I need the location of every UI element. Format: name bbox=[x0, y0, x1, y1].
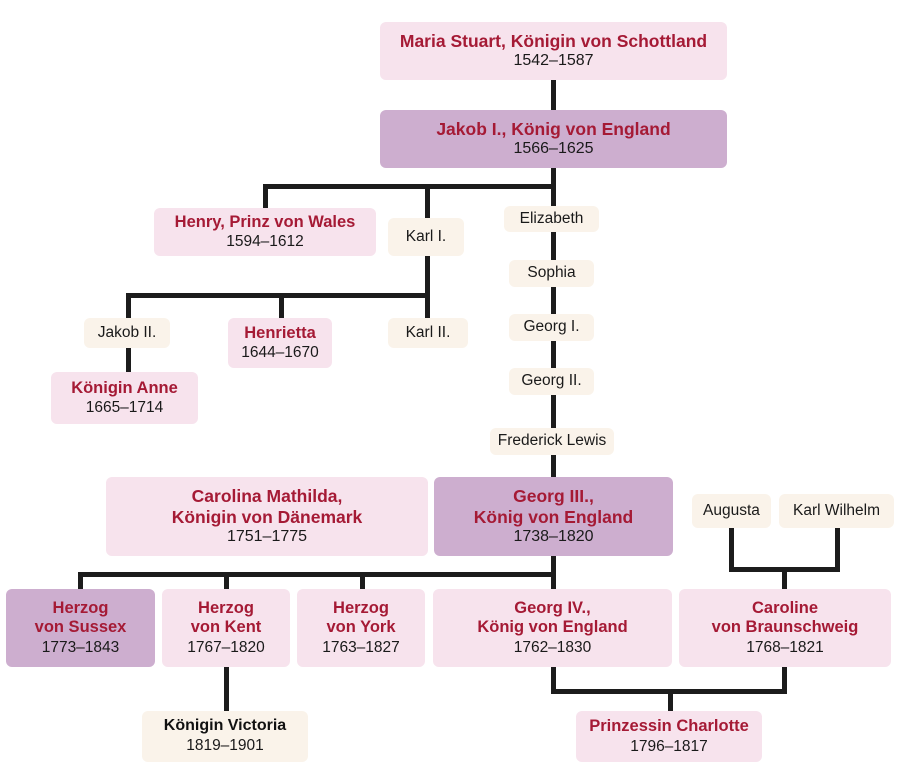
node-victoria-years: 1819–1901 bbox=[186, 737, 264, 755]
node-georg-iv-name-line2: König von England bbox=[477, 618, 627, 637]
node-caroline-von-braunschweig[interactable]: Caroline von Braunschweig 1768–1821 bbox=[679, 589, 891, 667]
node-maria-stuart-years: 1542–1587 bbox=[513, 52, 593, 71]
node-caroline-years: 1768–1821 bbox=[746, 639, 824, 657]
node-henrietta[interactable]: Henrietta 1644–1670 bbox=[228, 318, 332, 368]
edge-georg-ii-to-frederick bbox=[551, 395, 556, 428]
node-maria-stuart-name: Maria Stuart, Königin von Schottland bbox=[400, 31, 707, 52]
node-sophia-label: Sophia bbox=[527, 264, 575, 282]
edge-karl-wilhelm-down bbox=[835, 528, 840, 572]
node-henrietta-name: Henrietta bbox=[244, 324, 316, 343]
node-jakob-ii-label: Jakob II. bbox=[98, 324, 157, 342]
node-georg-iii-name-line1: Georg III., bbox=[513, 486, 594, 507]
node-jakob-i-name: Jakob I., König von England bbox=[436, 119, 670, 140]
edge-frederick-to-georg-iii bbox=[551, 455, 556, 479]
node-henry-name: Henry, Prinz von Wales bbox=[175, 213, 356, 232]
node-karl-i-label: Karl I. bbox=[406, 228, 446, 246]
node-caroline-name-line1: Caroline bbox=[752, 599, 818, 618]
edge-karl-i-bus bbox=[126, 293, 430, 298]
node-frederick-lewis[interactable]: Frederick Lewis bbox=[490, 428, 614, 455]
node-prinzessin-charlotte[interactable]: Prinzessin Charlotte 1796–1817 bbox=[576, 711, 762, 762]
node-sussex-name-line2: von Sussex bbox=[35, 618, 127, 637]
node-york-years: 1763–1827 bbox=[322, 639, 400, 657]
node-frederick-lewis-label: Frederick Lewis bbox=[498, 432, 607, 450]
edge-bus-to-henrietta bbox=[279, 293, 284, 318]
node-karl-wilhelm-label: Karl Wilhelm bbox=[793, 502, 880, 520]
node-georg-iii[interactable]: Georg III., König von England 1738–1820 bbox=[434, 477, 673, 556]
node-elizabeth[interactable]: Elizabeth bbox=[504, 206, 599, 232]
node-karl-wilhelm[interactable]: Karl Wilhelm bbox=[779, 494, 894, 528]
node-jakob-i[interactable]: Jakob I., König von England 1566–1625 bbox=[380, 110, 727, 168]
node-jakob-i-years: 1566–1625 bbox=[513, 140, 593, 159]
edge-elizabeth-to-sophia bbox=[551, 232, 556, 260]
node-henry-prinz-von-wales[interactable]: Henry, Prinz von Wales 1594–1612 bbox=[154, 208, 376, 256]
node-elizabeth-label: Elizabeth bbox=[520, 210, 584, 228]
edge-bus-to-henry bbox=[263, 184, 268, 208]
node-carolina-name-line1: Carolina Mathilda, bbox=[192, 486, 343, 507]
node-jakob-ii[interactable]: Jakob II. bbox=[84, 318, 170, 348]
node-kent-name-line1: Herzog bbox=[198, 599, 254, 618]
edge-bus-to-karl-i bbox=[425, 184, 430, 218]
edge-augusta-down bbox=[729, 528, 734, 572]
node-koenigin-victoria[interactable]: Königin Victoria 1819–1901 bbox=[142, 711, 308, 762]
node-koenigin-anne-name: Königin Anne bbox=[71, 379, 178, 398]
node-georg-ii[interactable]: Georg II. bbox=[509, 368, 594, 395]
node-carolina-mathilda[interactable]: Carolina Mathilda, Königin von Dänemark … bbox=[106, 477, 428, 556]
edge-jakob-ii-to-anne bbox=[126, 348, 131, 372]
node-georg-iv-years: 1762–1830 bbox=[514, 639, 592, 657]
node-york-name-line2: von York bbox=[326, 618, 395, 637]
edge-bus-to-caroline bbox=[782, 567, 787, 589]
edge-jakob-bus bbox=[263, 184, 556, 189]
node-georg-iv-name-line1: Georg IV., bbox=[514, 599, 590, 618]
node-georg-ii-label: Georg II. bbox=[521, 372, 581, 390]
edge-bus-to-kent bbox=[224, 572, 229, 589]
node-sussex-years: 1773–1843 bbox=[42, 639, 120, 657]
edge-kent-to-victoria bbox=[224, 667, 229, 711]
node-henrietta-years: 1644–1670 bbox=[241, 344, 319, 362]
edge-bus-to-sussex bbox=[78, 572, 83, 589]
node-kent-name-line2: von Kent bbox=[191, 618, 262, 637]
node-herzog-von-york[interactable]: Herzog von York 1763–1827 bbox=[297, 589, 425, 667]
node-georg-i-label: Georg I. bbox=[524, 318, 580, 336]
node-augusta-label: Augusta bbox=[703, 502, 760, 520]
node-charlotte-name: Prinzessin Charlotte bbox=[589, 717, 749, 736]
node-henry-years: 1594–1612 bbox=[226, 233, 304, 251]
node-charlotte-years: 1796–1817 bbox=[630, 738, 708, 756]
node-kent-years: 1767–1820 bbox=[187, 639, 265, 657]
node-augusta[interactable]: Augusta bbox=[692, 494, 771, 528]
edge-bus-to-georg-iv bbox=[551, 572, 556, 589]
node-herzog-von-kent[interactable]: Herzog von Kent 1767–1820 bbox=[162, 589, 290, 667]
edge-bus-to-elizabeth bbox=[551, 184, 556, 206]
edge-bus-to-york bbox=[360, 572, 365, 589]
edge-bus-to-jakob-ii bbox=[126, 293, 131, 318]
node-karl-ii[interactable]: Karl II. bbox=[388, 318, 468, 348]
node-georg-iv[interactable]: Georg IV., König von England 1762–1830 bbox=[433, 589, 672, 667]
node-georg-i[interactable]: Georg I. bbox=[509, 314, 594, 341]
node-sophia[interactable]: Sophia bbox=[509, 260, 594, 287]
node-carolina-name-line2: Königin von Dänemark bbox=[172, 507, 363, 528]
node-york-name-line1: Herzog bbox=[333, 599, 389, 618]
node-koenigin-anne-years: 1665–1714 bbox=[86, 399, 164, 417]
node-carolina-years: 1751–1775 bbox=[227, 528, 307, 547]
edge-bus-to-karl-ii bbox=[425, 293, 430, 318]
node-caroline-name-line2: von Braunschweig bbox=[712, 618, 859, 637]
node-maria-stuart[interactable]: Maria Stuart, Königin von Schottland 154… bbox=[380, 22, 727, 80]
node-sussex-name-line1: Herzog bbox=[53, 599, 109, 618]
node-karl-i[interactable]: Karl I. bbox=[388, 218, 464, 256]
edge-karl-i-stem bbox=[425, 256, 430, 297]
node-georg-iii-name-line2: König von England bbox=[474, 507, 633, 528]
edge-georg-iii-bus bbox=[78, 572, 556, 577]
node-herzog-von-sussex[interactable]: Herzog von Sussex 1773–1843 bbox=[6, 589, 155, 667]
edge-georg-i-to-georg-ii bbox=[551, 341, 556, 369]
node-georg-iii-years: 1738–1820 bbox=[513, 528, 593, 547]
node-karl-ii-label: Karl II. bbox=[406, 324, 451, 342]
node-koenigin-anne[interactable]: Königin Anne 1665–1714 bbox=[51, 372, 198, 424]
edge-maria-to-jakob bbox=[551, 80, 556, 111]
family-tree-diagram: Maria Stuart, Königin von Schottland 154… bbox=[0, 0, 897, 772]
edge-sophia-to-georg-i bbox=[551, 287, 556, 315]
node-victoria-name: Königin Victoria bbox=[164, 717, 286, 736]
